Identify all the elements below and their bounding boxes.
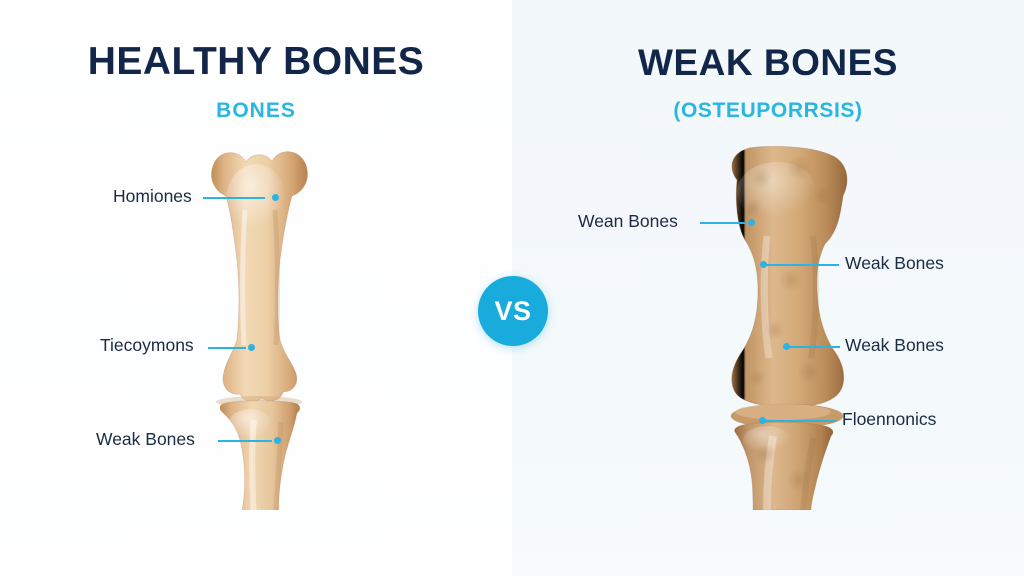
infographic-canvas: HEALTHY BONES BONES WEAK BONES (OSTEUPOR… (0, 0, 1024, 576)
weak-bone-illustration (695, 140, 885, 510)
page-subtitle-right: (OSTEUPORRSIS) (512, 99, 1024, 123)
leader-dot-right-2 (760, 261, 767, 268)
left-bottom-fade (0, 532, 512, 576)
callout-label-right-4: Floennonics (842, 409, 936, 430)
leader-line-left-2 (208, 347, 246, 349)
leader-line-left-3 (218, 440, 272, 442)
leader-dot-left-1 (272, 194, 279, 201)
callout-label-right-1: Wean Bones (578, 211, 678, 232)
leader-dot-left-2 (248, 344, 255, 351)
panel-healthy-bones (0, 0, 512, 576)
callout-label-right-3: Weak Bones (845, 335, 944, 356)
leader-dot-right-3 (783, 343, 790, 350)
right-bottom-fade (512, 542, 1024, 576)
leader-line-left-1 (203, 197, 265, 199)
leader-line-right-2 (763, 264, 839, 266)
leader-line-right-1 (700, 222, 746, 224)
leader-dot-right-1 (748, 219, 755, 226)
page-subtitle-left: BONES (0, 99, 512, 123)
callout-label-left-2: Tiecoymons (100, 335, 194, 356)
page-title-left: HEALTHY BONES (0, 40, 512, 84)
leader-dot-left-3 (274, 437, 281, 444)
panel-weak-bones (512, 0, 1024, 576)
vs-badge: VS (478, 276, 548, 346)
leader-dot-right-4 (759, 417, 766, 424)
leader-line-right-4 (762, 420, 836, 422)
callout-label-left-3: Weak Bones (96, 429, 195, 450)
page-title-right: WEAK BONES (512, 42, 1024, 84)
healthy-bone-illustration (182, 140, 352, 510)
callout-label-left-1: Homiones (113, 186, 192, 207)
callout-label-right-2: Weak Bones (845, 253, 944, 274)
leader-line-right-3 (786, 346, 840, 348)
